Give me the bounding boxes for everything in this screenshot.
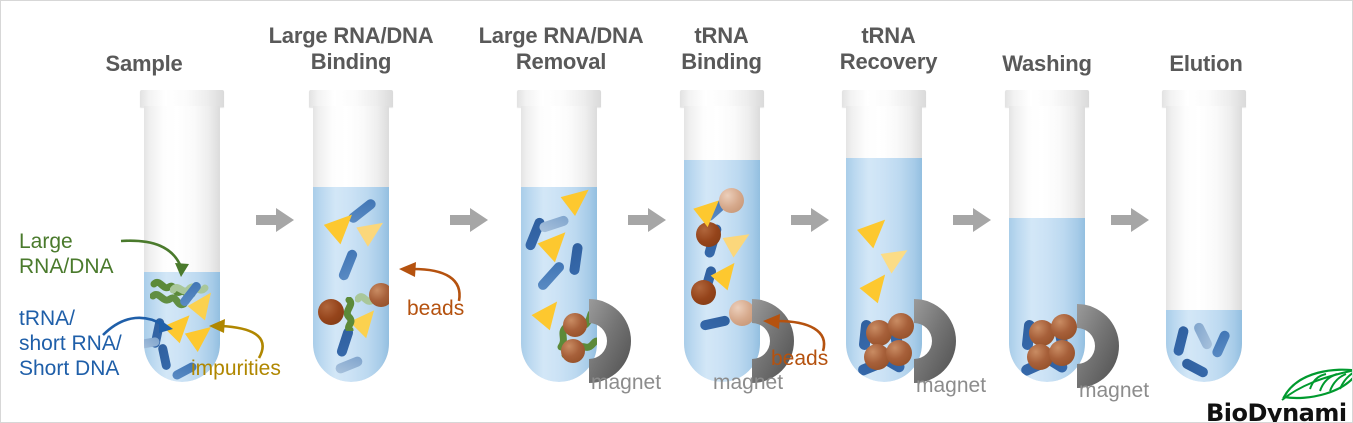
trna-rod — [536, 260, 566, 292]
flow-arrow-5 — [953, 206, 993, 234]
trna-rod — [1180, 357, 1209, 379]
magnet-label: magnet — [1079, 379, 1149, 403]
magnet-icon — [904, 297, 992, 385]
trna-rod — [1173, 325, 1190, 357]
leader-line-large-rna — [119, 233, 209, 289]
leader-line-impurities — [197, 306, 275, 364]
trna-rod — [699, 315, 730, 331]
trna-rod — [538, 215, 570, 234]
tube-cap-icon — [140, 90, 224, 107]
tube-cap-icon — [517, 90, 601, 107]
tube-cap-icon — [1162, 90, 1246, 107]
magnet-label: magnet — [591, 371, 661, 395]
impurity-triangle — [857, 220, 893, 252]
magnetic-bead — [719, 188, 744, 213]
leader-line-beads-1 — [389, 257, 471, 305]
tube-cap-icon — [842, 90, 926, 107]
impurity-triangle — [881, 250, 911, 275]
callout-large-rna-dna: Large RNA/DNA — [19, 229, 114, 279]
flow-arrow-2 — [450, 206, 490, 234]
tube-body — [313, 106, 389, 382]
step-title-elution: Elution — [1131, 51, 1281, 77]
impurity-triangle — [860, 274, 896, 307]
flow-arrow-6 — [1111, 206, 1151, 234]
step-title-washing: Washing — [966, 51, 1128, 77]
impurity-triangle — [561, 190, 595, 219]
step-title-trna-recovery: tRNA Recovery — [806, 23, 971, 75]
trna-rod — [337, 248, 358, 281]
step-title-large-rna-removal: Large RNA/DNA Removal — [461, 23, 661, 75]
magnetic-bead — [369, 283, 389, 307]
step-title-sample: Sample — [101, 51, 187, 77]
magnet-label: magnet — [713, 371, 783, 395]
tube-liquid — [313, 187, 389, 382]
tube-cap-icon — [680, 90, 764, 107]
impurity-triangle — [723, 234, 753, 259]
trna-rod — [334, 355, 364, 375]
tube-body — [1166, 106, 1242, 382]
trna-rod — [1211, 329, 1232, 359]
trna-rod — [1192, 321, 1213, 351]
magnetic-bead — [318, 299, 344, 325]
impurity-triangle — [538, 232, 575, 265]
step-title-large-rna-binding: Large RNA/DNA Binding — [251, 23, 451, 75]
magnetic-bead — [691, 280, 716, 305]
leader-line-beads-2 — [753, 313, 833, 355]
impurity-triangle — [356, 223, 386, 248]
tube-liquid — [1166, 310, 1242, 382]
leader-line-trna — [101, 307, 181, 349]
magnet-label: magnet — [916, 374, 986, 398]
flow-arrow-1 — [256, 206, 296, 234]
flow-arrow-4 — [791, 206, 831, 234]
step-title-trna-binding: tRNA Binding — [649, 23, 794, 75]
brand-logo-text: BioDynami — [1206, 399, 1347, 423]
dna-leaf-icon — [1280, 367, 1353, 401]
magnet-icon — [1067, 302, 1155, 390]
diagram-canvas: Sample Large RNA/DNA Binding Large RNA/D… — [0, 0, 1353, 423]
tube-cap-icon — [309, 90, 393, 107]
tube-cap-icon — [1005, 90, 1089, 107]
flow-arrow-3 — [628, 206, 668, 234]
